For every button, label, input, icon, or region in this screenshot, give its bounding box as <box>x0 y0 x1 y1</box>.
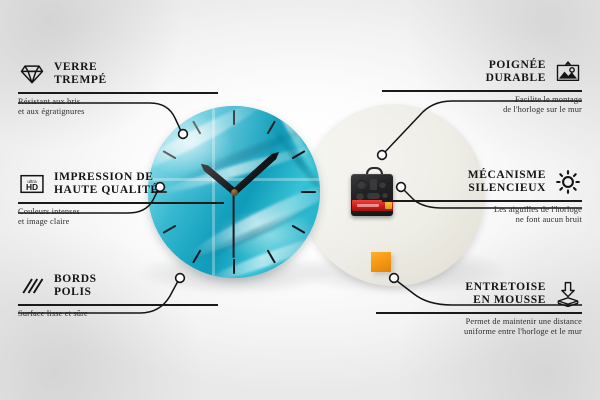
callout-title: POIGNÉE DURABLE <box>486 59 546 86</box>
callout-title: IMPRESSION DE HAUTE QUALITÉ <box>54 171 159 198</box>
callout-header: ultra HD IMPRESSION DE HAUTE QUALITÉ <box>18 170 224 198</box>
callout-poignee-durable[interactable]: POIGNÉE DURABLE Facilite le montage de <box>382 58 582 116</box>
callout-mecanisme-silencieux[interactable]: MÉCANISME SILENCIEUX Les aiguilles de l'… <box>382 168 582 226</box>
mechanism-dial-1 <box>357 180 366 189</box>
ultra-hd-icon-bottom-text: HD <box>26 182 38 192</box>
hanging-frame-icon <box>554 58 582 86</box>
callout-bords-polis[interactable]: BORDS POLIS Surface lisse et sûre <box>18 272 218 319</box>
callout-impression-haute-qualite[interactable]: ultra HD IMPRESSION DE HAUTE QUALITÉ Cou… <box>18 170 224 228</box>
foam-spacer-icon <box>554 280 582 308</box>
diamond-icon <box>18 60 46 88</box>
callout-header: VERRE TREMPÉ <box>18 60 218 88</box>
callout-header: MÉCANISME SILENCIEUX <box>382 168 582 196</box>
callout-title: MÉCANISME SILENCIEUX <box>468 169 546 196</box>
callout-entretoise-en-mousse[interactable]: ENTRETOISE EN MOUSSE Permet de maintenir… <box>376 280 582 338</box>
callout-title: BORDS POLIS <box>54 273 97 300</box>
gear-icon <box>554 168 582 196</box>
callout-divider <box>18 92 218 94</box>
battery-label-stripe <box>357 204 379 207</box>
foam-spacer-pad <box>371 252 391 272</box>
callout-description: Résistant aux bris et aux égratignures <box>18 97 218 118</box>
mechanism-slot-1 <box>370 179 377 190</box>
callout-description: Les aiguilles de l'horloge ne font aucun… <box>382 205 582 226</box>
tick-12 <box>233 110 235 125</box>
callout-verre-trempe[interactable]: VERRE TREMPÉ Résistant aux bris et aux é… <box>18 60 218 118</box>
ultra-hd-icon: ultra HD <box>18 170 46 198</box>
callout-header: POIGNÉE DURABLE <box>382 58 582 86</box>
callout-description: Permet de maintenir une distance uniform… <box>376 317 582 338</box>
callout-title: ENTRETOISE EN MOUSSE <box>465 281 546 308</box>
callout-title: VERRE TREMPÉ <box>54 61 107 88</box>
mechanism-slot-2 <box>367 193 380 199</box>
callout-description: Surface lisse et sûre <box>18 309 218 320</box>
callout-divider <box>18 304 218 306</box>
infographic-canvas: VERRE TREMPÉ Résistant aux bris et aux é… <box>0 0 600 400</box>
hands-center-cap <box>231 189 238 196</box>
mechanism-dial-3 <box>356 192 364 200</box>
callout-description: Couleurs intenses et image claire <box>18 207 224 228</box>
callout-divider <box>382 90 582 92</box>
second-hand <box>233 192 235 258</box>
callout-divider <box>376 312 582 314</box>
callout-description: Facilite le montage de l'horloge sur le … <box>382 95 582 116</box>
callout-header: BORDS POLIS <box>18 272 218 300</box>
polished-edges-icon <box>18 272 46 300</box>
tick-6 <box>233 259 235 274</box>
callout-divider <box>18 202 224 204</box>
callout-divider <box>382 200 582 202</box>
callout-header: ENTRETOISE EN MOUSSE <box>376 280 582 308</box>
tick-3 <box>301 191 316 193</box>
